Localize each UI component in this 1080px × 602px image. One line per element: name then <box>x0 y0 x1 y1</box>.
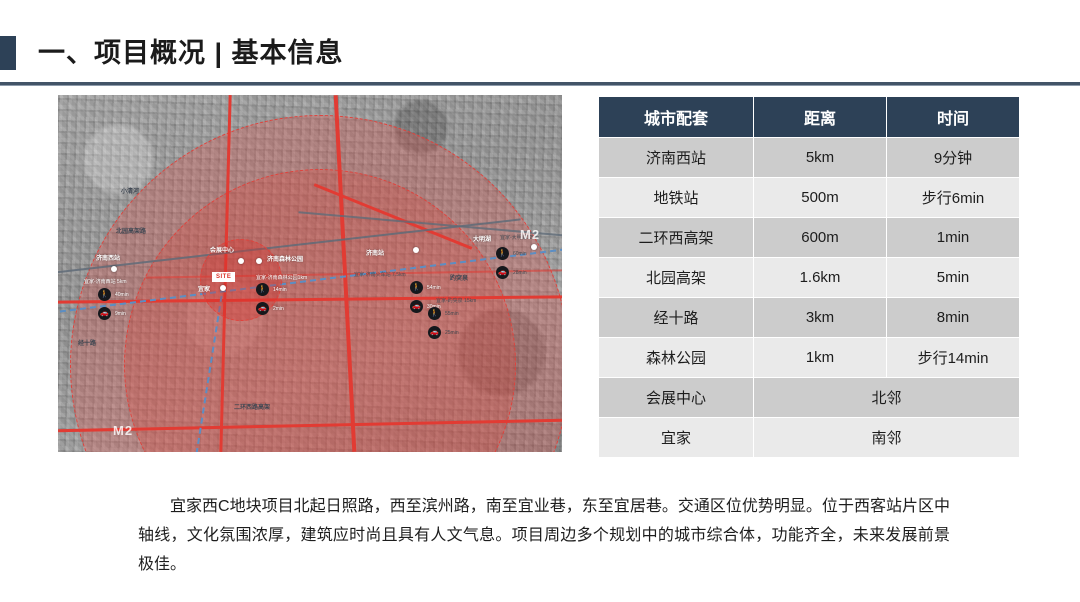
table-cell-facility: 经十路 <box>599 298 754 338</box>
table-row: 北园高架 1.6km 5min <box>599 258 1020 298</box>
map-poi-walk-time-daminghu: 60min <box>513 251 527 257</box>
table-header-time: 时间 <box>887 97 1020 138</box>
map-poi-label-senlingongyuan: 济南森林公园 <box>267 254 303 263</box>
map-poi-dot-jinanzhan <box>413 247 419 253</box>
table-cell-merged-value: 北邻 <box>754 378 1020 418</box>
map-watermark-right: M2 <box>520 227 540 242</box>
map-poi-note-senlingongyuan: 宜家-济南森林公园1km <box>256 274 307 281</box>
car-icon: 🚗 <box>256 302 269 315</box>
map-poi-note-jinanxizhan: 宜家-济南西站 5km <box>84 278 127 285</box>
map-poi-drive-time-jinanxizhan: 9min <box>115 311 126 317</box>
table-cell-merged-value: 南邻 <box>754 418 1020 458</box>
city-facilities-table: 城市配套 距离 时间 济南西站 5km 9分钟 地铁站 500m 步行6min … <box>598 96 1020 458</box>
page-title: 一、项目概况 | 基本信息 <box>38 35 344 71</box>
walk-icon: 🚶 <box>496 247 509 260</box>
map-poi-label-daminghu: 大明湖 <box>473 234 491 243</box>
car-icon: 🚗 <box>98 307 111 320</box>
map-poi-dot-yijia <box>220 285 226 291</box>
car-icon: 🚗 <box>428 326 441 339</box>
walk-icon: 🚶 <box>98 288 111 301</box>
table-cell-time: 9分钟 <box>887 138 1020 178</box>
table-row: 二环西高架 600m 1min <box>599 218 1020 258</box>
map-watermark-left: M2 <box>113 423 133 438</box>
map-poi-walk-time-jinanxizhan: 40min <box>115 292 129 298</box>
map-poi-drive-time-senlingongyuan: 2min <box>273 306 284 312</box>
map-poi-walk-time-baotuquan: 55min <box>445 311 459 317</box>
title-accent-bar <box>0 36 16 70</box>
map-poi-note-jinanzhan: 宜家-济南火车站 7.5km <box>354 271 406 278</box>
table-cell-distance: 5km <box>754 138 887 178</box>
table-cell-distance: 500m <box>754 178 887 218</box>
map-poi-note-baotuquan: 宜家-趵突泉 15km <box>436 297 476 304</box>
table-header-row: 城市配套 距离 时间 <box>599 97 1020 138</box>
table-header-facility: 城市配套 <box>599 97 754 138</box>
map-road-label-beiyuan: 北园高架路 <box>116 226 146 235</box>
table-row: 济南西站 5km 9分钟 <box>599 138 1020 178</box>
map-poi-label-yijia: 宜家 <box>198 284 210 293</box>
table-row: 经十路 3km 8min <box>599 298 1020 338</box>
location-map[interactable]: 小清河 北园高架路 经十路 二环西路高架 济南西站 宜家-济南西站 5km 🚶 … <box>58 95 562 452</box>
map-poi-label-baotuquan: 趵突泉 <box>450 273 468 282</box>
map-poi-drive-time-baotuquan: 25min <box>445 330 459 336</box>
table-row: 会展中心 北邻 <box>599 378 1020 418</box>
table-cell-distance: 3km <box>754 298 887 338</box>
slide-header: 一、项目概况 | 基本信息 <box>0 0 1080 86</box>
table-row: 森林公园 1km 步行14min <box>599 338 1020 378</box>
map-poi-dot-daminghu <box>531 244 537 250</box>
map-site-badge: SITE <box>212 272 235 282</box>
table-cell-time: 步行6min <box>887 178 1020 218</box>
map-road-label-xiaoqinghe: 小清河 <box>121 186 139 195</box>
map-poi-walk-time-senlingongyuan: 14min <box>273 287 287 293</box>
table-cell-facility: 地铁站 <box>599 178 754 218</box>
title-divider-secondary <box>0 85 1080 86</box>
table-row: 地铁站 500m 步行6min <box>599 178 1020 218</box>
table-cell-facility: 森林公园 <box>599 338 754 378</box>
table-header-distance: 距离 <box>754 97 887 138</box>
map-poi-walk-time-jinanzhan: 54min <box>427 285 441 291</box>
table-cell-distance: 600m <box>754 218 887 258</box>
project-description: 宜家西C地块项目北起日照路，西至滨州路，南至宜业巷，东至宜居巷。交通区位优势明显… <box>138 492 950 579</box>
car-icon: 🚗 <box>410 300 423 313</box>
map-poi-dot-jinanxizhan <box>111 266 117 272</box>
map-poi-label-huizhanzhongxin: 会展中心 <box>210 245 234 254</box>
map-poi-dot-huizhanzhongxin <box>238 258 244 264</box>
map-road-label-erhuanxi: 二环西路高架 <box>234 402 270 411</box>
walk-icon: 🚶 <box>256 283 269 296</box>
walk-icon: 🚶 <box>428 307 441 320</box>
map-poi-label-jinanzhan: 济南站 <box>366 248 384 257</box>
map-road-label-jingshi: 经十路 <box>78 338 96 347</box>
map-poi-dot-senlingongyuan <box>256 258 262 264</box>
table-cell-time: 8min <box>887 298 1020 338</box>
map-poi-label-jinanxizhan: 济南西站 <box>96 253 120 262</box>
table-cell-distance: 1km <box>754 338 887 378</box>
table-cell-facility: 北园高架 <box>599 258 754 298</box>
table-cell-time: 5min <box>887 258 1020 298</box>
table-cell-time: 步行14min <box>887 338 1020 378</box>
car-icon: 🚗 <box>496 266 509 279</box>
table-cell-facility: 宜家 <box>599 418 754 458</box>
walk-icon: 🚶 <box>410 281 423 294</box>
map-poi-drive-time-daminghu: 28min <box>513 270 527 276</box>
table-cell-facility: 二环西高架 <box>599 218 754 258</box>
table-row: 宜家 南邻 <box>599 418 1020 458</box>
table-cell-distance: 1.6km <box>754 258 887 298</box>
table-cell-time: 1min <box>887 218 1020 258</box>
table-cell-facility: 会展中心 <box>599 378 754 418</box>
table-cell-facility: 济南西站 <box>599 138 754 178</box>
